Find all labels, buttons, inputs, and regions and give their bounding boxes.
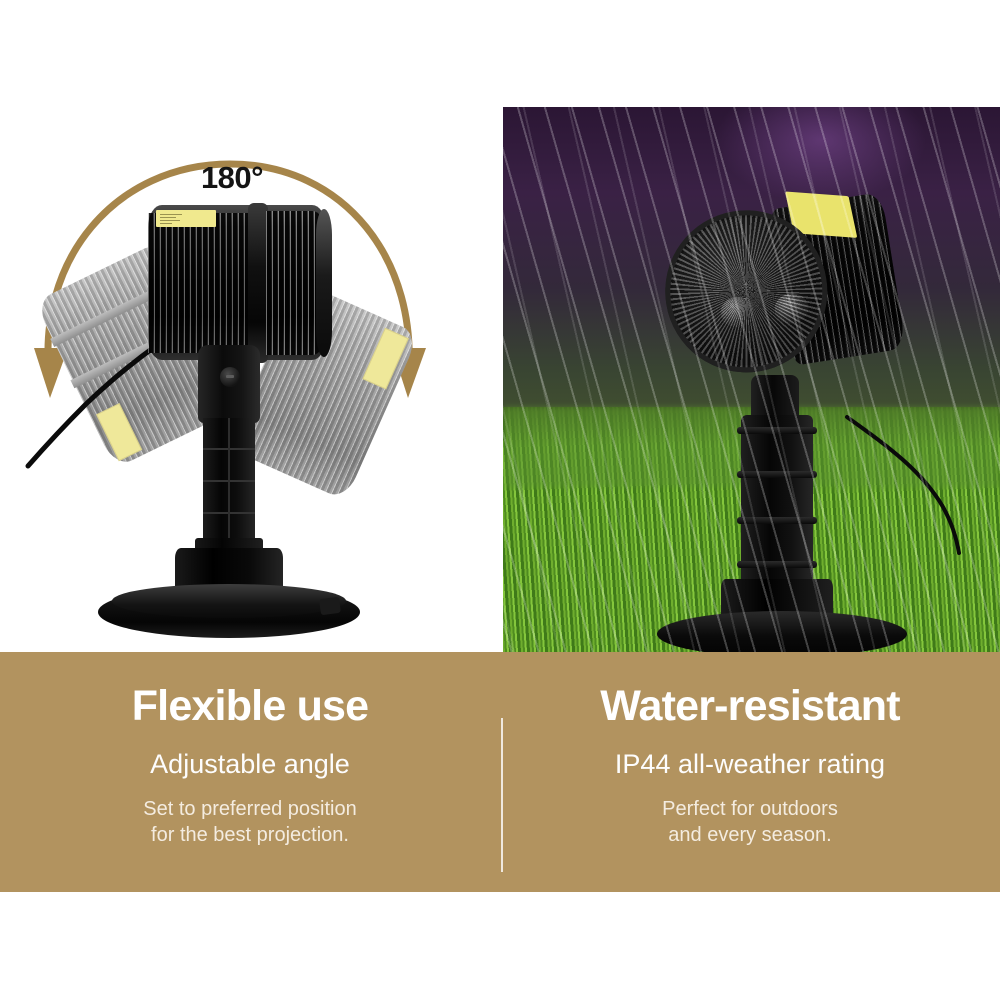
bottom-whitespace	[0, 892, 1000, 1000]
projector-head	[148, 205, 326, 360]
feature-description: Perfect for outdoors and every season.	[662, 797, 838, 848]
feature-column-flexible-use: Flexible use Adjustable angle Set to pre…	[0, 652, 500, 892]
base-disc-top-face	[112, 584, 346, 618]
feature-subtitle: Adjustable angle	[150, 751, 350, 778]
product-feature-infographic: 180°	[0, 0, 1000, 1000]
rain-streak-overlay	[503, 107, 1000, 652]
feature-column-divider	[501, 718, 503, 872]
feature-description-line2: for the best projection.	[143, 823, 356, 849]
top-image-row: 180°	[0, 0, 1000, 652]
base-cord-tab	[319, 597, 341, 616]
feature-column-water-resistant: Water-resistant IP44 all-weather rating …	[500, 652, 1000, 892]
feature-description-line2: and every season.	[662, 823, 838, 849]
feature-title: Flexible use	[132, 685, 369, 728]
angle-label-180: 180°	[0, 160, 464, 196]
projector-tilt-yoke	[198, 345, 260, 423]
projector-collar-ring	[248, 203, 268, 363]
projector-yellow-label	[156, 210, 216, 227]
projector-end-cap	[316, 209, 332, 357]
tilt-hinge-screw-icon	[220, 367, 240, 387]
projector-barrel-ribs-front	[148, 213, 248, 353]
feature-title: Water-resistant	[600, 685, 899, 728]
feature-subtitle: IP44 all-weather rating	[615, 751, 885, 778]
feature-description-line1: Perfect for outdoors	[662, 797, 838, 823]
feature-description-line1: Set to preferred position	[143, 797, 356, 823]
feature-text-band: Flexible use Adjustable angle Set to pre…	[0, 652, 1000, 892]
water-resistant-photo-panel	[503, 107, 1000, 652]
projector-stem	[203, 418, 255, 558]
feature-description: Set to preferred position for the best p…	[143, 797, 356, 848]
flexible-use-illustration-panel: 180°	[0, 0, 500, 652]
